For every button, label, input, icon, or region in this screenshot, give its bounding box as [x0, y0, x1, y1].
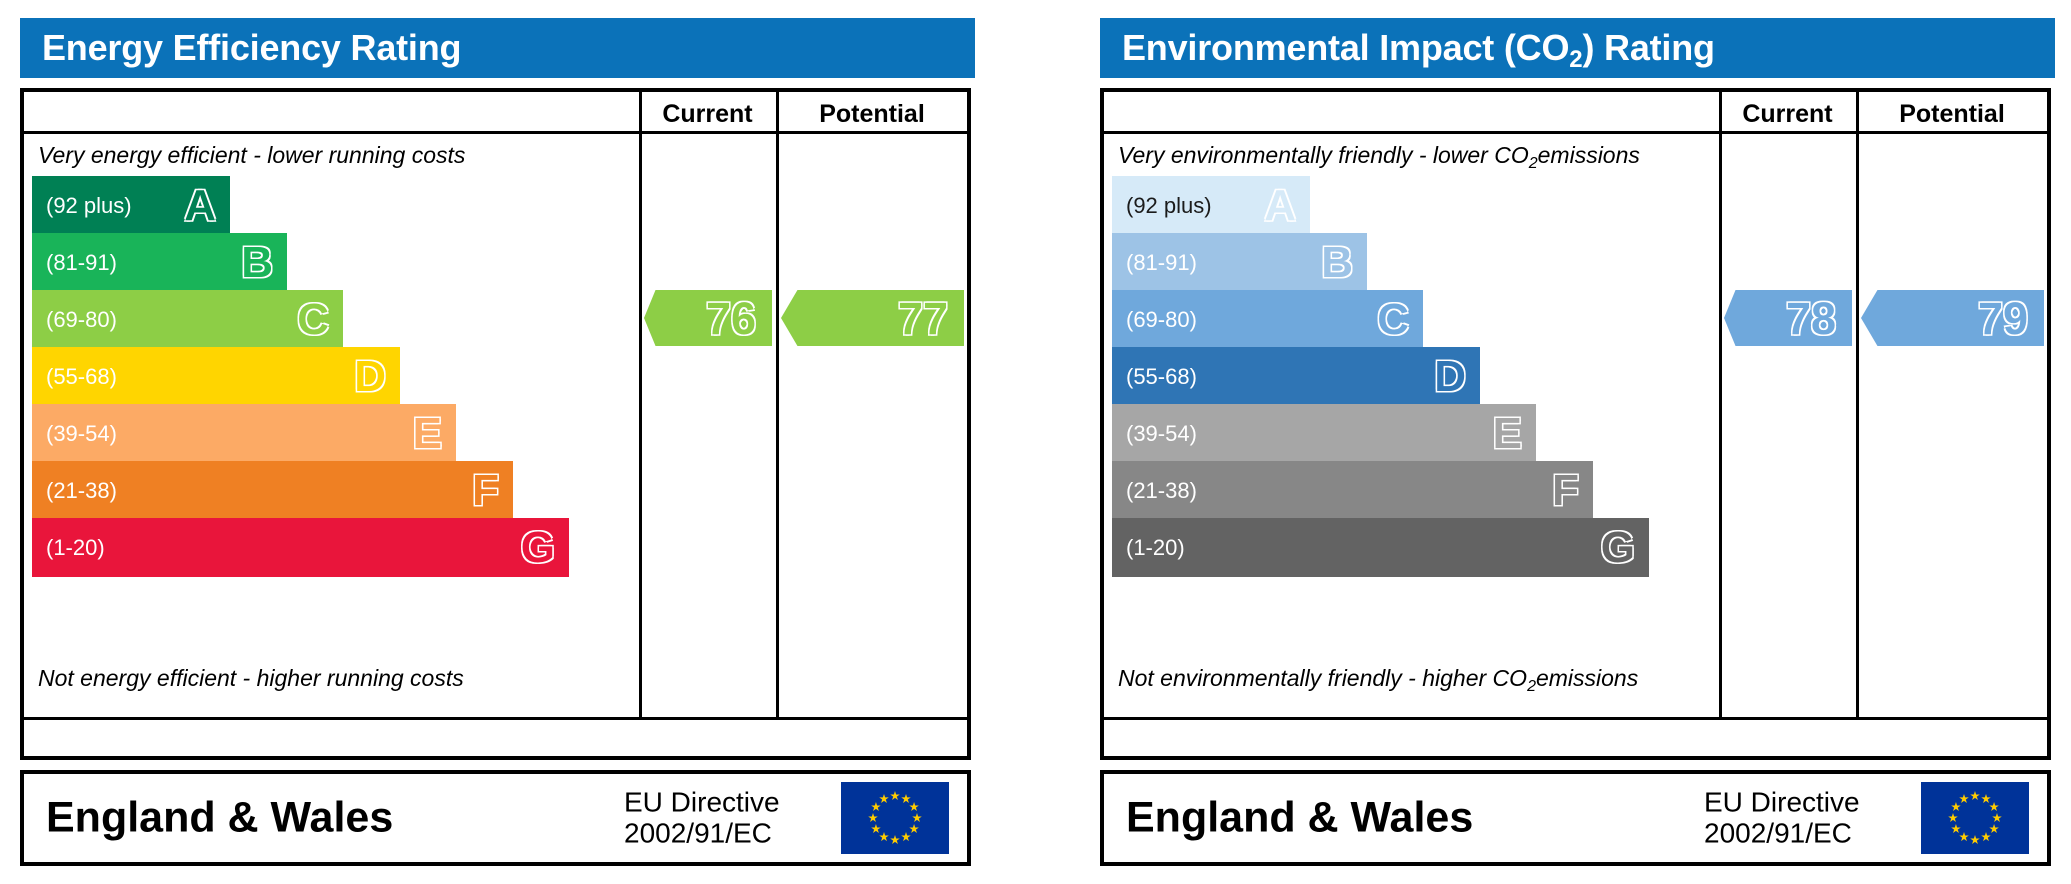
environment-caption-top: Very environmentally friendly - lower CO…: [1118, 142, 1640, 169]
energy-band-c-letter: C: [297, 298, 329, 342]
energy-column-divider-2: [776, 92, 779, 717]
energy-band-f: (21-38) F: [32, 461, 513, 520]
energy-chart-title: Energy Efficiency Rating: [42, 27, 461, 69]
energy-band-g-range: (1-20): [46, 535, 105, 561]
energy-band-a-range: (92 plus): [46, 193, 132, 219]
environment-directive-line-1: EU Directive: [1704, 787, 1860, 818]
environment-current-rating-arrow: 78: [1724, 290, 1852, 346]
energy-band-b-letter: B: [241, 241, 273, 285]
environment-band-b-range: (81-91): [1126, 250, 1197, 276]
environment-caption-top-suffix: emissions: [1538, 142, 1640, 168]
energy-current-rating-value: 76: [706, 296, 772, 341]
environment-band-e: (39-54) E: [1112, 404, 1536, 463]
environment-caption-bottom-prefix: Not environmentally friendly - higher CO: [1118, 665, 1527, 691]
energy-band-e-letter: E: [413, 412, 442, 456]
energy-chart-header: Energy Efficiency Rating: [20, 18, 975, 78]
environment-band-list: (92 plus) A (81-91) B (69-80) C (55-68) …: [1112, 176, 1712, 660]
environment-title-suffix: ) Rating: [1582, 27, 1714, 68]
environment-band-e-range: (39-54): [1126, 421, 1197, 447]
environment-table-bottom-rule: [1104, 717, 2047, 720]
environment-band-f-range: (21-38): [1126, 478, 1197, 504]
energy-band-c: (69-80) C: [32, 290, 343, 349]
energy-potential-rating-arrow: 77: [781, 290, 964, 346]
environment-band-b: (81-91) B: [1112, 233, 1367, 292]
energy-current-rating-arrow: 76: [644, 290, 772, 346]
environment-caption-top-subscript: 2: [1529, 155, 1538, 172]
environment-potential-column-label: Potential: [1856, 100, 2048, 129]
environment-caption-top-prefix: Very environmentally friendly - lower CO: [1118, 142, 1529, 168]
energy-potential-column-label: Potential: [776, 100, 968, 129]
environment-current-column-label: Current: [1719, 100, 1856, 129]
energy-band-d-range: (55-68): [46, 364, 117, 390]
energy-band-g: (1-20) G: [32, 518, 569, 577]
environment-caption-bottom-suffix: emissions: [1536, 665, 1638, 691]
environment-band-c-range: (69-80): [1126, 307, 1197, 333]
environment-caption-bottom-subscript: 2: [1527, 678, 1536, 695]
environment-band-g-range: (1-20): [1126, 535, 1185, 561]
energy-band-c-range: (69-80): [46, 307, 117, 333]
environment-band-e-letter: E: [1493, 412, 1522, 456]
environment-band-d-letter: D: [1434, 355, 1466, 399]
environment-band-f: (21-38) F: [1112, 461, 1593, 520]
environment-band-f-letter: F: [1552, 469, 1579, 513]
environment-current-rating-value: 78: [1786, 296, 1852, 341]
energy-current-column-label: Current: [639, 100, 776, 129]
energy-directive-line-1: EU Directive: [624, 787, 780, 818]
environment-column-divider-2: [1856, 92, 1859, 717]
energy-rating-table: Current Potential Very energy efficient …: [20, 88, 971, 760]
energy-band-b: (81-91) B: [32, 233, 287, 292]
energy-band-d: (55-68) D: [32, 347, 400, 406]
environment-title-prefix: Environmental Impact (CO: [1122, 27, 1569, 68]
energy-band-a-letter: A: [184, 184, 216, 228]
environment-band-g: (1-20) G: [1112, 518, 1649, 577]
energy-band-d-letter: D: [354, 355, 386, 399]
energy-band-e-range: (39-54): [46, 421, 117, 447]
eu-flag-icon: [841, 782, 949, 854]
eu-flag-icon: [1921, 782, 2029, 854]
environment-band-a-letter: A: [1264, 184, 1296, 228]
environmental-impact-chart: Environmental Impact (CO2) Rating Curren…: [1100, 0, 2055, 884]
environment-band-g-letter: G: [1601, 526, 1635, 570]
energy-efficiency-chart: Energy Efficiency Rating Current Potenti…: [20, 0, 975, 884]
environment-band-d: (55-68) D: [1112, 347, 1480, 406]
environment-band-b-letter: B: [1321, 241, 1353, 285]
environment-band-c: (69-80) C: [1112, 290, 1423, 349]
energy-caption-bottom: Not energy efficient - higher running co…: [38, 665, 464, 692]
environment-footer-directive: EU Directive 2002/91/EC: [1704, 787, 1860, 850]
energy-band-g-letter: G: [521, 526, 555, 570]
environment-directive-line-2: 2002/91/EC: [1704, 818, 1860, 849]
energy-band-f-range: (21-38): [46, 478, 117, 504]
environment-column-divider-1: [1719, 92, 1722, 717]
energy-potential-rating-value: 77: [898, 296, 964, 341]
energy-band-e: (39-54) E: [32, 404, 456, 463]
environment-chart-title: Environmental Impact (CO2) Rating: [1122, 27, 1715, 69]
environment-footer: England & Wales EU Directive 2002/91/EC: [1100, 770, 2051, 866]
environment-caption-bottom: Not environmentally friendly - higher CO…: [1118, 665, 1638, 692]
energy-band-b-range: (81-91): [46, 250, 117, 276]
environment-rating-table: Current Potential Very environmentally f…: [1100, 88, 2051, 760]
energy-caption-top: Very energy efficient - lower running co…: [38, 142, 465, 169]
energy-directive-line-2: 2002/91/EC: [624, 818, 780, 849]
environment-band-a-range: (92 plus): [1126, 193, 1212, 219]
environment-potential-rating-arrow: 79: [1861, 290, 2044, 346]
environment-title-subscript: 2: [1569, 46, 1582, 73]
energy-band-list: (92 plus) A (81-91) B (69-80) C (55-68) …: [32, 176, 632, 660]
energy-column-divider-1: [639, 92, 642, 717]
environment-chart-header: Environmental Impact (CO2) Rating: [1100, 18, 2055, 78]
energy-band-a: (92 plus) A: [32, 176, 230, 235]
environment-potential-rating-value: 79: [1978, 296, 2044, 341]
energy-band-f-letter: F: [472, 469, 499, 513]
environment-footer-region: England & Wales: [1126, 794, 1473, 843]
environment-band-a: (92 plus) A: [1112, 176, 1310, 235]
environment-band-c-letter: C: [1377, 298, 1409, 342]
environment-band-d-range: (55-68): [1126, 364, 1197, 390]
energy-footer-region: England & Wales: [46, 794, 393, 843]
energy-footer: England & Wales EU Directive 2002/91/EC: [20, 770, 971, 866]
energy-footer-directive: EU Directive 2002/91/EC: [624, 787, 780, 850]
epc-rating-graphic: Energy Efficiency Rating Current Potenti…: [0, 0, 2071, 884]
energy-table-bottom-rule: [24, 717, 967, 720]
